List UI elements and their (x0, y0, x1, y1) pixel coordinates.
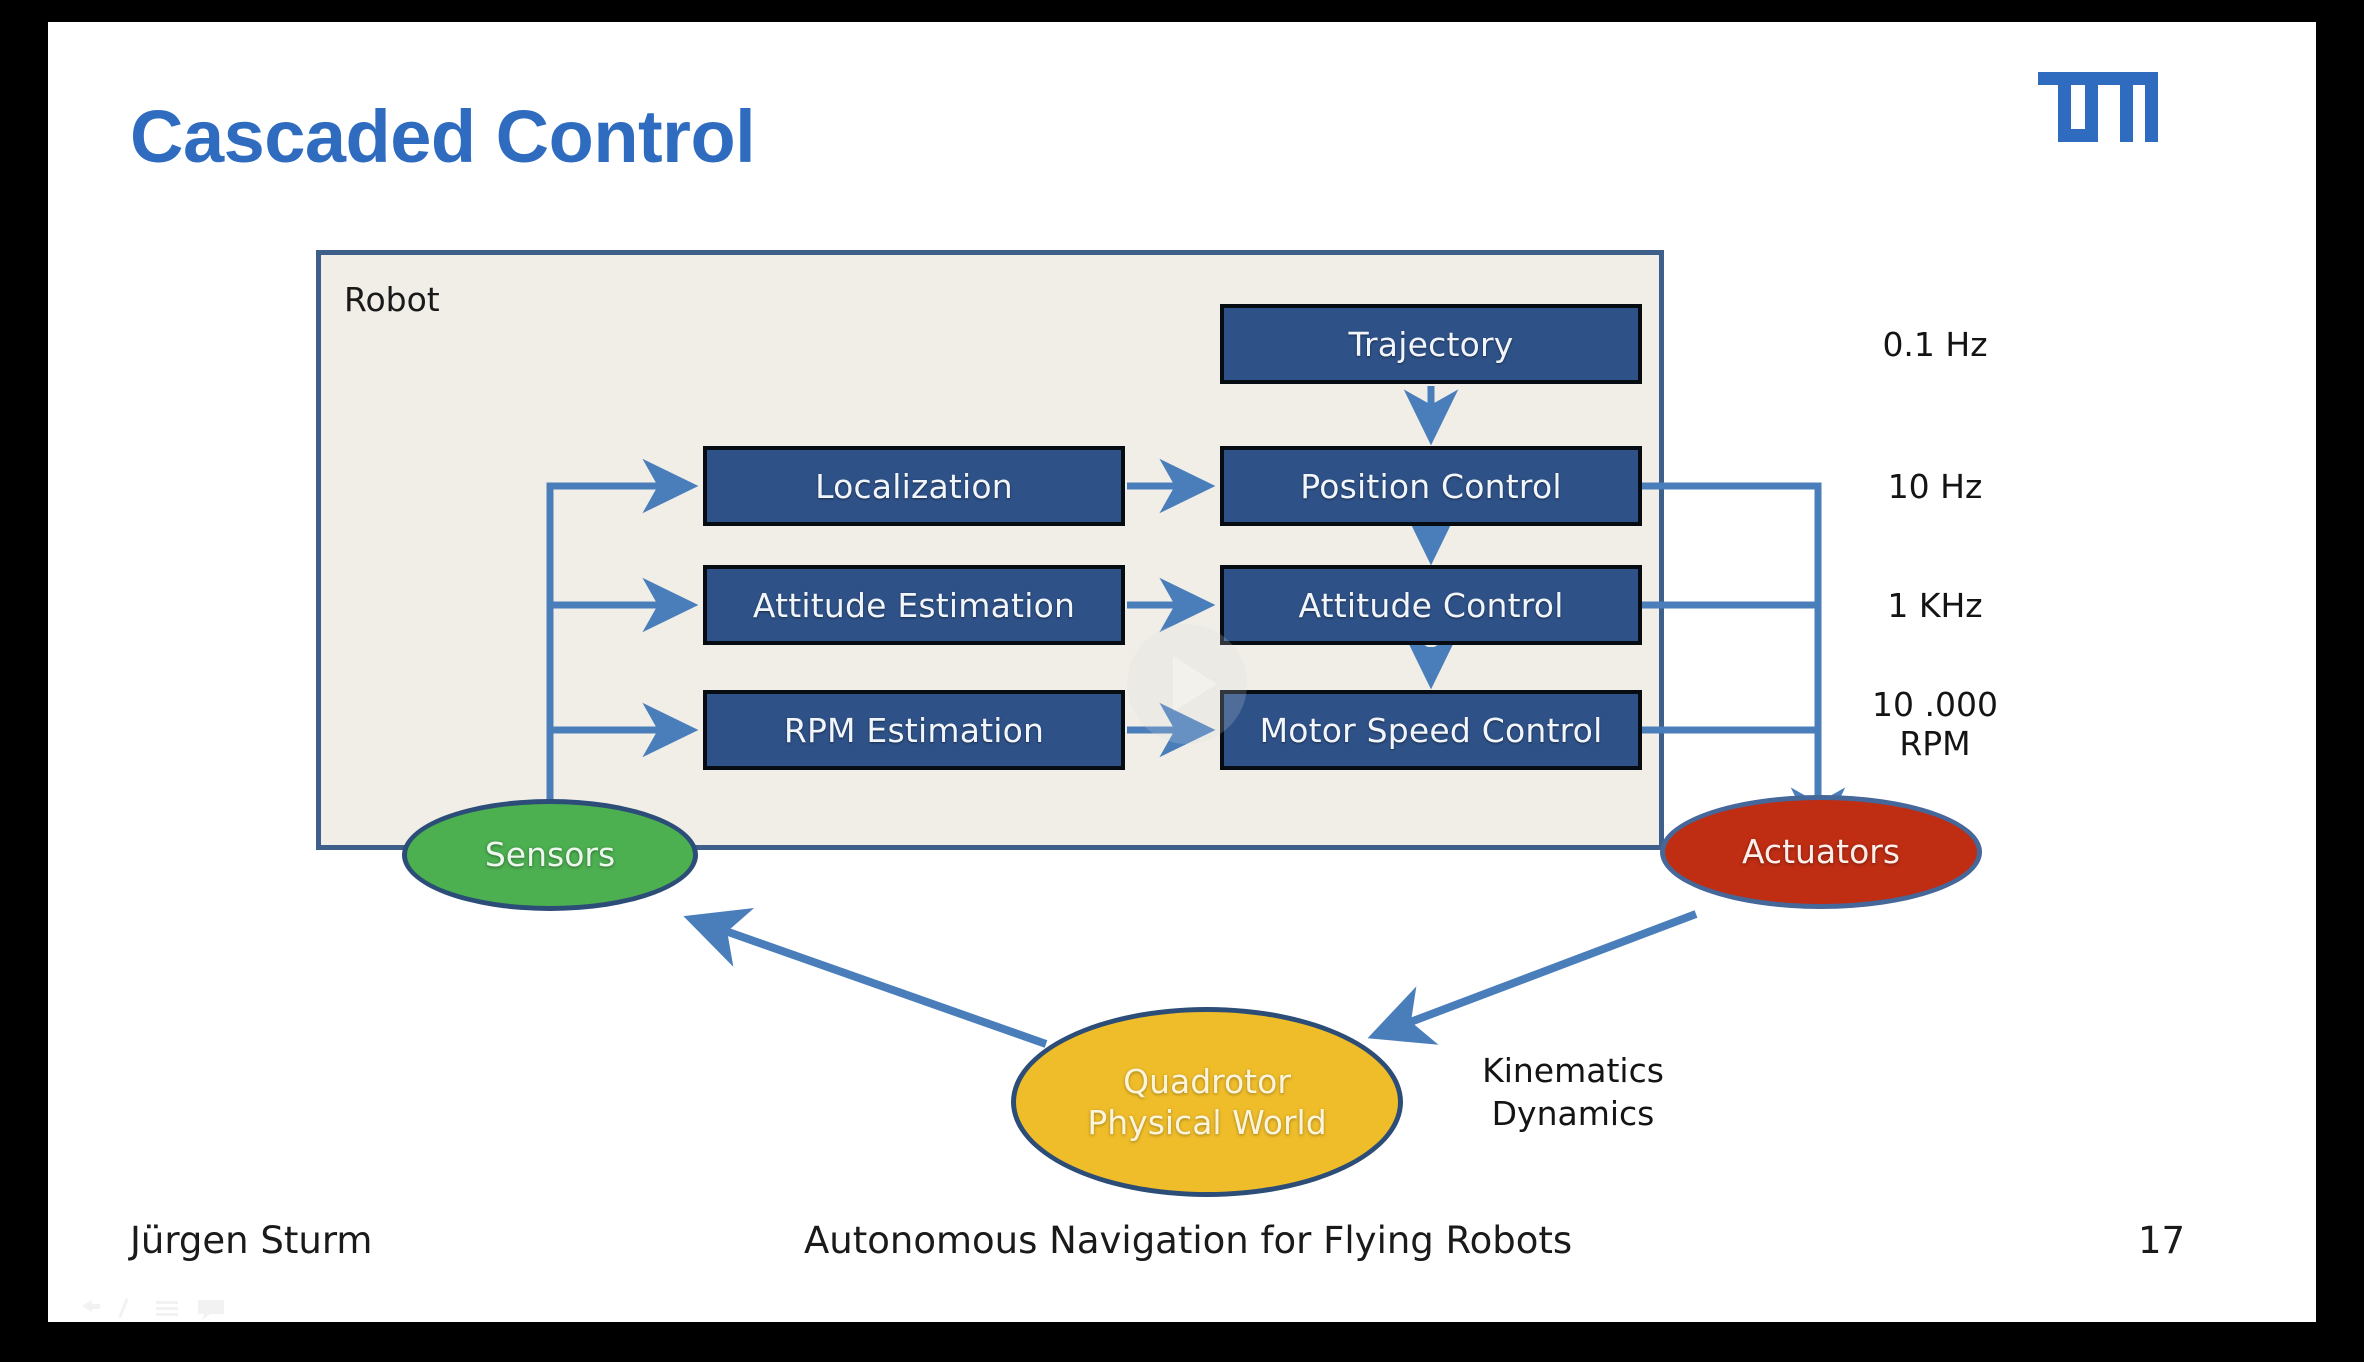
ellipse-sensors[interactable]: Sensors (402, 799, 698, 911)
ellipse-quadrotor-line1: Quadrotor (1123, 1061, 1291, 1102)
annotation-kinematics-dynamics: Kinematics Dynamics (1458, 1050, 1688, 1136)
back-arrow-icon (82, 1300, 92, 1312)
connector-actuators-to-quadrotor (1384, 914, 1696, 1032)
rate-label-trajectory: 0.1 Hz (1820, 326, 2050, 365)
pen-icon (118, 1298, 128, 1318)
connector-controls-to-actuators (1642, 486, 1818, 828)
page-title: Cascaded Control (130, 100, 755, 174)
rate-label-position: 10 Hz (1820, 468, 2050, 507)
slide-root: Cascaded Control Robot (0, 0, 2364, 1362)
box-motor-speed-control[interactable]: Motor Speed Control (1220, 690, 1642, 770)
box-attitude-estimation[interactable]: Attitude Estimation (703, 565, 1125, 645)
box-attitude-control[interactable]: Attitude Control (1220, 565, 1642, 645)
player-toolbar-icons[interactable] (78, 1292, 238, 1322)
footer-course-title: Autonomous Navigation for Flying Robots (804, 1219, 1572, 1262)
footer-author: Jürgen Sturm (130, 1219, 372, 1262)
rate-label-motor-line1: 10 .000 (1820, 686, 2050, 725)
list-icon (156, 1301, 178, 1304)
rate-label-motor: 10 .000 RPM (1820, 686, 2050, 764)
robot-label: Robot (344, 280, 440, 319)
ellipse-actuators[interactable]: Actuators (1660, 795, 1982, 909)
box-trajectory[interactable]: Trajectory (1220, 304, 1642, 384)
tum-logo-icon (2038, 72, 2158, 142)
annotation-line-kinematics: Kinematics (1458, 1050, 1688, 1093)
box-rpm-estimation[interactable]: RPM Estimation (703, 690, 1125, 770)
box-position-control[interactable]: Position Control (1220, 446, 1642, 526)
footer-page-number: 17 (2138, 1219, 2185, 1262)
play-button-icon[interactable] (1123, 620, 1251, 748)
slide-canvas: Cascaded Control Robot (48, 22, 2316, 1322)
ellipse-quadrotor-line2: Physical World (1087, 1102, 1326, 1143)
box-localization[interactable]: Localization (703, 446, 1125, 526)
annotation-line-dynamics: Dynamics (1458, 1093, 1688, 1136)
connector-quadrotor-to-sensors (700, 922, 1046, 1044)
rate-label-attitude: 1 KHz (1820, 587, 2050, 626)
ellipse-quadrotor[interactable]: Quadrotor Physical World (1011, 1007, 1403, 1197)
comment-icon (198, 1300, 224, 1320)
rate-label-motor-line2: RPM (1820, 725, 2050, 764)
